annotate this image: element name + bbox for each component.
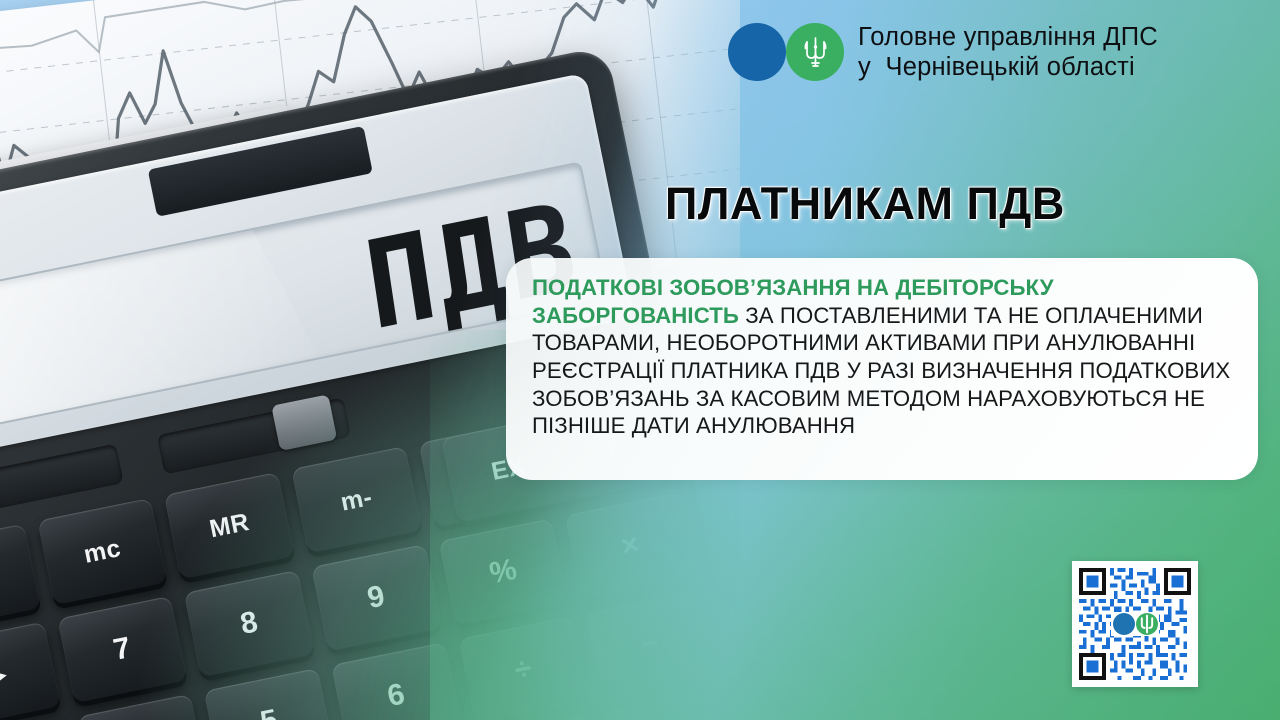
page-title: ПЛАТНИКАМ ПДВ bbox=[665, 178, 1065, 230]
dps-logo bbox=[728, 23, 844, 81]
message-text: ПОДАТКОВІ ЗОБОВ’ЯЗАННЯ НА ДЕБІТОРСЬКУ ЗА… bbox=[532, 274, 1234, 440]
qr-trident-icon bbox=[1136, 613, 1158, 635]
organisation-header: Головне управління ДПС у Чернівецькій об… bbox=[728, 22, 1158, 82]
message-card: ПОДАТКОВІ ЗОБОВ’ЯЗАННЯ НА ДЕБІТОРСЬКУ ЗА… bbox=[506, 258, 1258, 480]
org-name-line2: у Чернівецькій області bbox=[858, 52, 1158, 82]
logo-blue-circle-icon bbox=[728, 23, 786, 81]
qr-logo-blue-circle-icon bbox=[1113, 613, 1135, 635]
qr-logo-green-circle-icon bbox=[1136, 613, 1158, 635]
organisation-name: Головне управління ДПС у Чернівецькій об… bbox=[858, 22, 1158, 82]
qr-code[interactable] bbox=[1072, 561, 1198, 687]
qr-center-logo bbox=[1111, 612, 1159, 636]
poster: 7.5% 5.8% 14.6% 14.9% 10.1% ПДВ F CUT 5/ bbox=[0, 0, 1280, 720]
trident-icon bbox=[803, 35, 828, 69]
logo-green-circle-icon bbox=[786, 23, 844, 81]
org-name-line1: Головне управління ДПС bbox=[858, 22, 1158, 52]
